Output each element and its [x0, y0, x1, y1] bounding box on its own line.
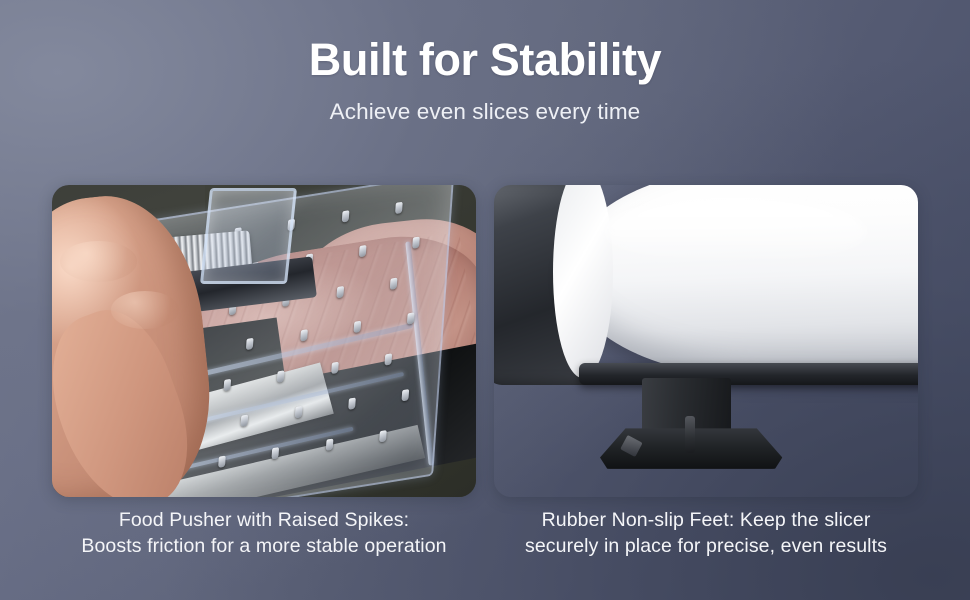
spike — [359, 245, 367, 257]
caption-food-pusher: Food Pusher with Raised Spikes: Boosts f… — [52, 508, 476, 560]
spike — [412, 237, 420, 249]
caption-line-2: Boosts friction for a more stable operat… — [52, 534, 476, 560]
product-feature-banner: Built for Stability Achieve even slices … — [0, 0, 970, 600]
spike — [402, 389, 410, 401]
spike — [384, 354, 392, 366]
spike — [353, 321, 361, 333]
knuckle-1 — [60, 241, 136, 282]
housing-front-face — [553, 185, 612, 378]
feature-panel-rubber-feet — [494, 185, 918, 497]
caption-line-1: Rubber Non-slip Feet: Keep the slicer — [494, 508, 918, 534]
rubber-foot-nub — [685, 416, 695, 453]
spike — [336, 287, 344, 299]
spike — [241, 414, 249, 426]
caption-line-2: securely in place for precise, even resu… — [494, 534, 918, 560]
rubber-feet-photo — [494, 185, 918, 497]
spike — [341, 211, 349, 223]
feature-panels — [52, 185, 918, 497]
page-title: Built for Stability — [0, 36, 970, 84]
spike — [223, 379, 231, 391]
spike — [379, 430, 387, 442]
caption-line-1: Food Pusher with Raised Spikes: — [52, 508, 476, 534]
feature-panel-food-pusher — [52, 185, 476, 497]
spike — [407, 313, 415, 325]
page-subtitle: Achieve even slices every time — [0, 98, 970, 125]
spike — [294, 406, 302, 418]
housing-highlight — [604, 197, 867, 266]
spike — [348, 397, 356, 409]
spike — [331, 362, 339, 374]
spike — [277, 371, 285, 383]
slicer-base-plate — [579, 363, 918, 385]
pusher-handle-block — [200, 188, 297, 284]
spike — [246, 338, 254, 350]
spike — [218, 455, 226, 467]
knuckle-2 — [111, 291, 179, 328]
spike — [272, 447, 280, 459]
feature-captions: Food Pusher with Raised Spikes: Boosts f… — [52, 508, 918, 560]
spike — [300, 330, 308, 342]
spike — [395, 202, 403, 214]
caption-rubber-feet: Rubber Non-slip Feet: Keep the slicer se… — [494, 508, 918, 560]
spike — [390, 278, 398, 290]
banner-header: Built for Stability Achieve even slices … — [0, 0, 970, 125]
food-pusher-photo — [52, 185, 476, 497]
spike — [325, 438, 333, 450]
